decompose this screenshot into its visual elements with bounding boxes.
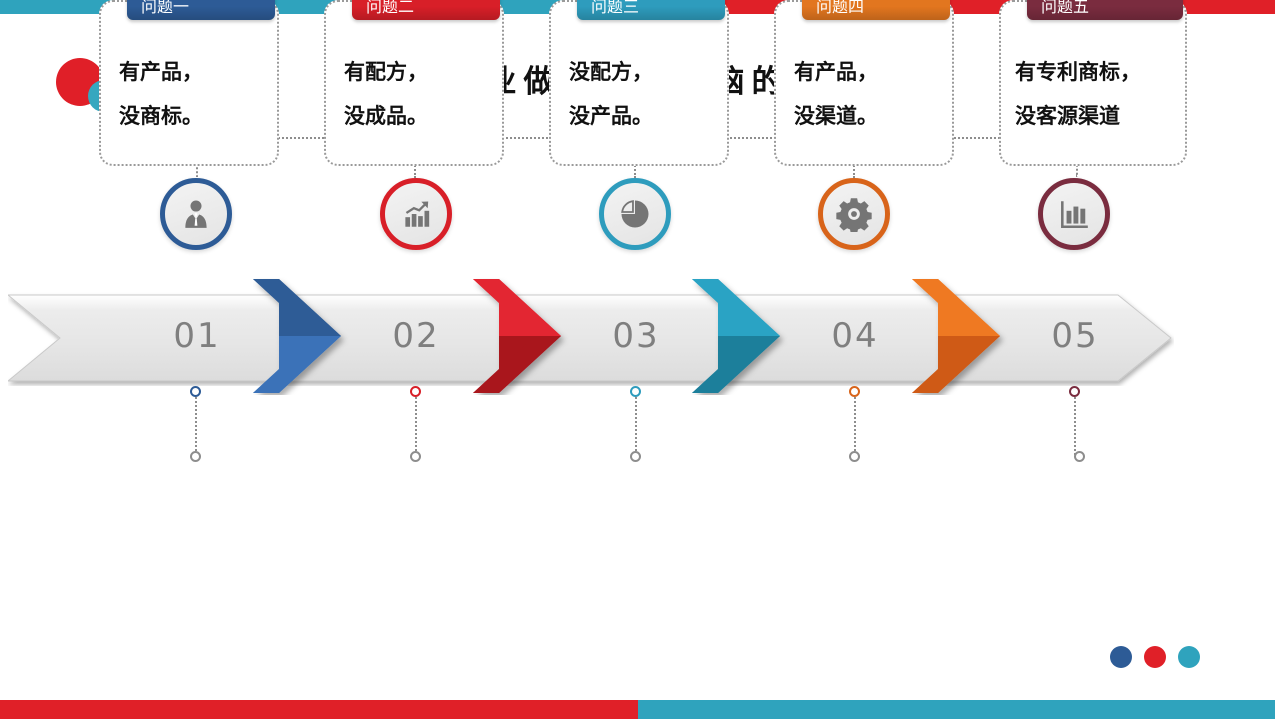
step-icon-2[interactable] bbox=[380, 178, 452, 250]
chevron-arrow-3 bbox=[692, 277, 788, 395]
step-marker-bottom-1 bbox=[190, 451, 201, 462]
step-marker-bottom-5 bbox=[1074, 451, 1085, 462]
problem-card-2[interactable]: 问题二 有配方， 没成品。 bbox=[324, 0, 504, 166]
step-marker-top-4 bbox=[849, 386, 860, 397]
step-marker-top-5 bbox=[1069, 386, 1080, 397]
footer-dot-3 bbox=[1178, 646, 1200, 668]
problem-card-line-3b: 没产品。 bbox=[569, 94, 709, 138]
step-icon-4[interactable] bbox=[818, 178, 890, 250]
problem-card-line-2a: 有配方， bbox=[344, 50, 484, 94]
footer-dots bbox=[1110, 646, 1200, 668]
problem-card-5[interactable]: 问题五 有专利商标， 没客源渠道 bbox=[999, 0, 1187, 166]
problem-card-line-3a: 没配方， bbox=[569, 50, 709, 94]
step-marker-top-3 bbox=[630, 386, 641, 397]
bottom-bar-left-segment bbox=[0, 700, 638, 719]
problem-card-line-2b: 没成品。 bbox=[344, 94, 484, 138]
step-number-5: 05 bbox=[1030, 316, 1120, 356]
bottom-decorative-bar bbox=[0, 700, 1275, 719]
step-stem-2 bbox=[415, 397, 417, 455]
step-number-4: 04 bbox=[810, 316, 900, 356]
businessman-icon bbox=[179, 197, 213, 231]
step-marker-bottom-4 bbox=[849, 451, 860, 462]
step-marker-top-2 bbox=[410, 386, 421, 397]
problem-card-4[interactable]: 问题四 有产品， 没渠道。 bbox=[774, 0, 954, 166]
step-number-2: 02 bbox=[371, 316, 461, 356]
pie-chart-icon bbox=[617, 196, 653, 232]
problem-card-title-2: 问题二 bbox=[352, 0, 500, 20]
step-stem-3 bbox=[635, 397, 637, 455]
step-number-3: 03 bbox=[591, 316, 681, 356]
step-marker-bottom-3 bbox=[630, 451, 641, 462]
problem-card-line-1b: 没商标。 bbox=[119, 94, 259, 138]
footer-dot-1 bbox=[1110, 646, 1132, 668]
chevron-arrow-2 bbox=[473, 277, 569, 395]
chevron-arrow-1 bbox=[253, 277, 349, 395]
top-bar-left-segment bbox=[0, 0, 638, 14]
growth-chart-icon bbox=[399, 197, 433, 231]
step-icon-3[interactable] bbox=[599, 178, 671, 250]
problem-card-body-5: 有专利商标， 没客源渠道 bbox=[1001, 50, 1185, 138]
problem-card-3[interactable]: 问题三 没配方， 没产品。 bbox=[549, 0, 729, 166]
problem-card-line-4a: 有产品， bbox=[794, 50, 934, 94]
problem-card-line-5b: 没客源渠道 bbox=[1015, 94, 1171, 138]
gear-icon bbox=[836, 196, 872, 232]
problem-card-body-3: 没配方， 没产品。 bbox=[551, 50, 727, 138]
bar-chart-icon bbox=[1057, 197, 1091, 231]
chevron-arrow-4 bbox=[912, 277, 1008, 395]
step-marker-bottom-2 bbox=[410, 451, 421, 462]
problem-card-line-1a: 有产品， bbox=[119, 50, 259, 94]
footer-dot-2 bbox=[1144, 646, 1166, 668]
problem-card-body-2: 有配方， 没成品。 bbox=[326, 50, 502, 138]
problem-card-title-1: 问题一 bbox=[127, 0, 275, 20]
problem-card-title-3: 问题三 bbox=[577, 0, 725, 20]
step-stem-4 bbox=[854, 397, 856, 455]
step-icon-5[interactable] bbox=[1038, 178, 1110, 250]
bottom-bar-right-segment bbox=[638, 700, 1275, 719]
problem-card-1[interactable]: 问题一 有产品， 没商标。 bbox=[99, 0, 279, 166]
problem-card-title-5: 问题五 bbox=[1027, 0, 1183, 20]
step-stem-1 bbox=[195, 397, 197, 455]
problem-card-body-1: 有产品， 没商标。 bbox=[101, 50, 277, 138]
problem-card-body-4: 有产品， 没渠道。 bbox=[776, 50, 952, 138]
problem-card-line-5a: 有专利商标， bbox=[1015, 50, 1171, 94]
problem-card-line-4b: 没渠道。 bbox=[794, 94, 934, 138]
step-number-1: 01 bbox=[152, 316, 242, 356]
step-icon-1[interactable] bbox=[160, 178, 232, 250]
step-marker-top-1 bbox=[190, 386, 201, 397]
step-stem-5 bbox=[1074, 397, 1076, 455]
problem-card-title-4: 问题四 bbox=[802, 0, 950, 20]
